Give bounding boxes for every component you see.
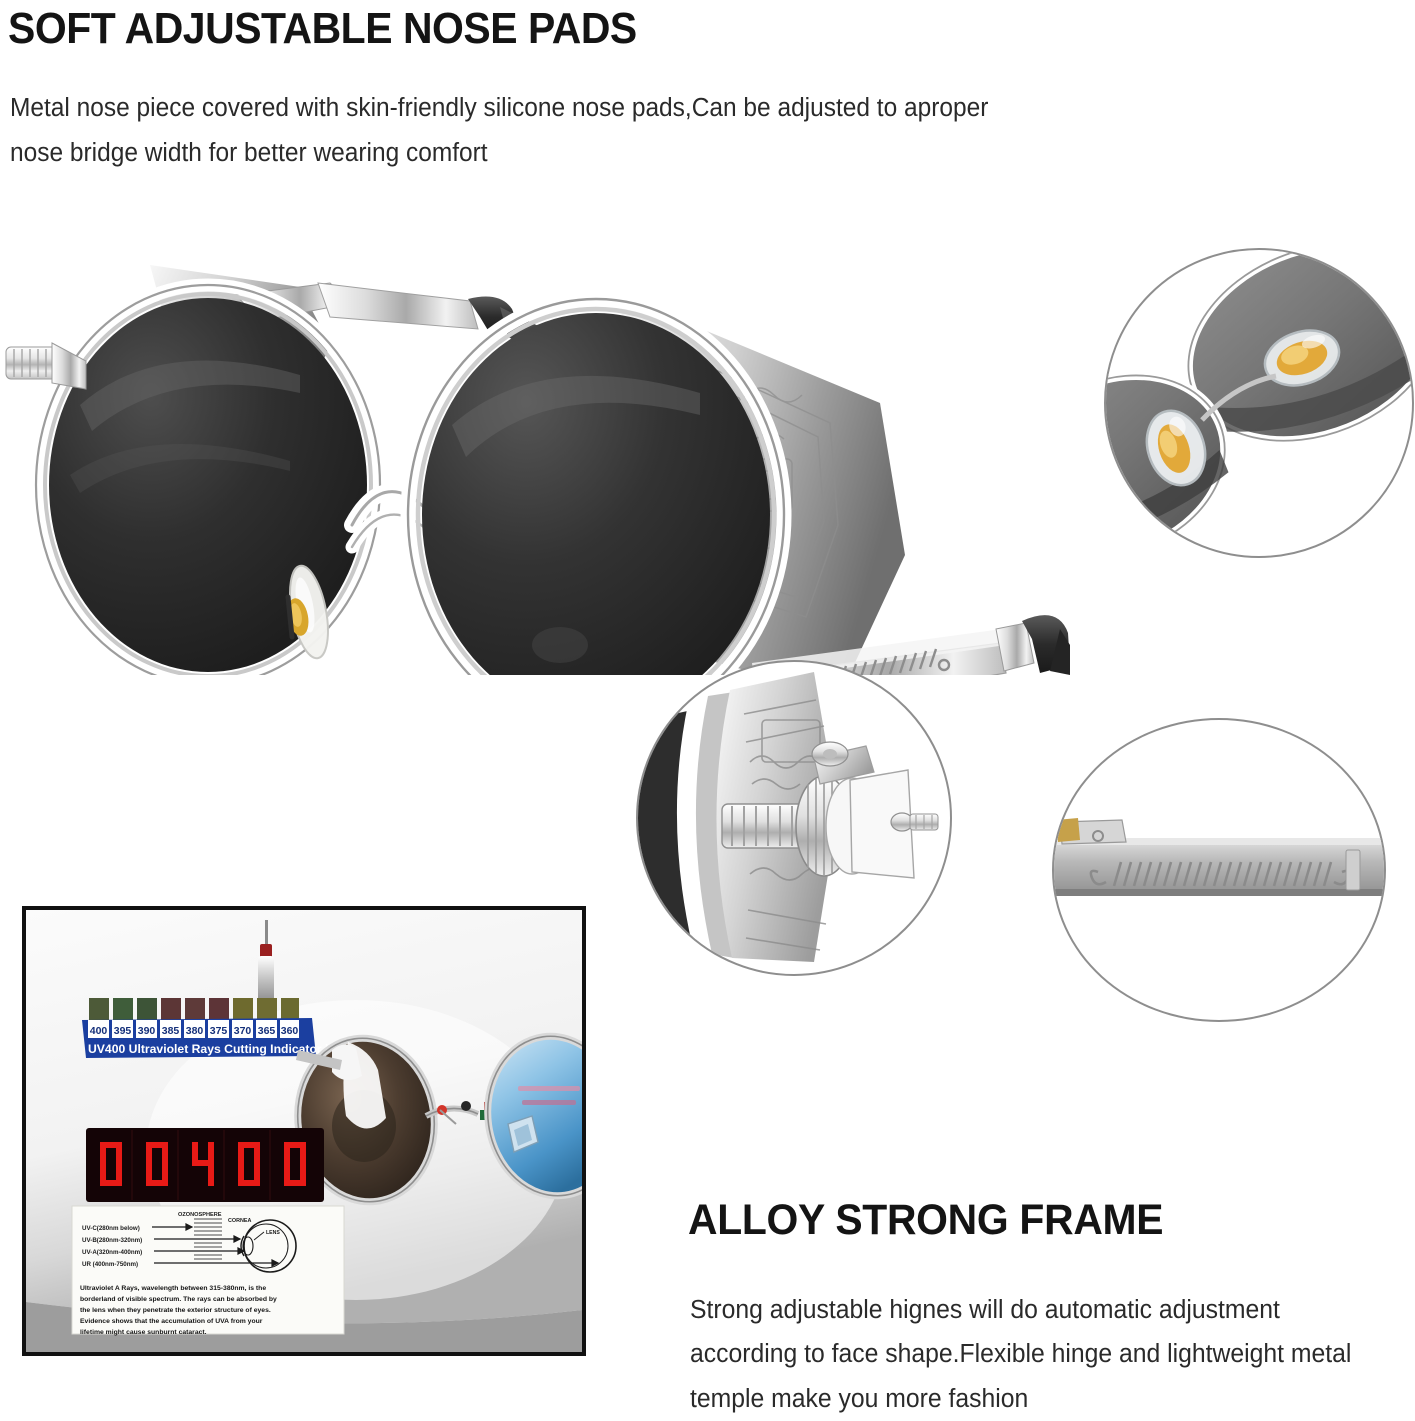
svg-text:400: 400 [90, 1025, 108, 1037]
svg-text:UV-C(280nm below): UV-C(280nm below) [82, 1225, 140, 1232]
svg-text:UR (400nm-750nm): UR (400nm-750nm) [82, 1261, 138, 1268]
main-product-image [0, 225, 1070, 675]
callout-hinge-screw-detail [636, 660, 952, 976]
page-title: SOFT ADJUSTABLE NOSE PADS [8, 6, 637, 52]
callout-spring-temple-detail [1052, 718, 1386, 1022]
page-subtitle: Metal nose piece covered with skin-frien… [10, 86, 1028, 177]
svg-text:360: 360 [281, 1025, 299, 1037]
callout-nose-pads-detail [1104, 248, 1414, 558]
svg-text:LENS: LENS [266, 1230, 280, 1236]
led-display [86, 1128, 324, 1202]
svg-text:OZONOSPHERE: OZONOSPHERE [178, 1212, 222, 1218]
svg-text:Evidence shows that the ac: Evidence shows that the accumulation of … [80, 1318, 263, 1325]
alloy-section-title: ALLOY STRONG FRAME [688, 1196, 1163, 1245]
svg-text:375: 375 [210, 1025, 228, 1037]
svg-text:UV-B(280nm-320nm): UV-B(280nm-320nm) [82, 1237, 142, 1244]
svg-text:CORNEA: CORNEA [228, 1218, 251, 1224]
svg-text:390: 390 [138, 1025, 156, 1037]
svg-text:365: 365 [258, 1025, 276, 1037]
uv-info-card: OZONOSPHERE CORNEA LENS UV-C(280nm below… [72, 1206, 344, 1336]
svg-text:the lens when they penetrat: the lens when they penetrate the exterio… [80, 1307, 271, 1314]
svg-text:lifetime might cause sunburnt: lifetime might cause sunburnt cataract. [80, 1329, 207, 1336]
svg-text:385: 385 [162, 1025, 180, 1037]
svg-text:Ultraviolet A Rays, waveleng: Ultraviolet A Rays, wavelength between 3… [80, 1285, 266, 1292]
svg-text:370: 370 [234, 1025, 252, 1037]
svg-text:UV-A(320nm-400nm): UV-A(320nm-400nm) [82, 1249, 142, 1256]
alloy-section-body: Strong adjustable hignes will do automat… [690, 1288, 1369, 1421]
svg-text:380: 380 [186, 1025, 204, 1037]
svg-text:395: 395 [114, 1025, 132, 1037]
svg-text:borderland of visible spectrum: borderland of visible spectrum. The rays… [80, 1296, 277, 1303]
uv400-test-photo: 400 395 390 385 380 375 370 365 360 UV40… [22, 906, 586, 1356]
